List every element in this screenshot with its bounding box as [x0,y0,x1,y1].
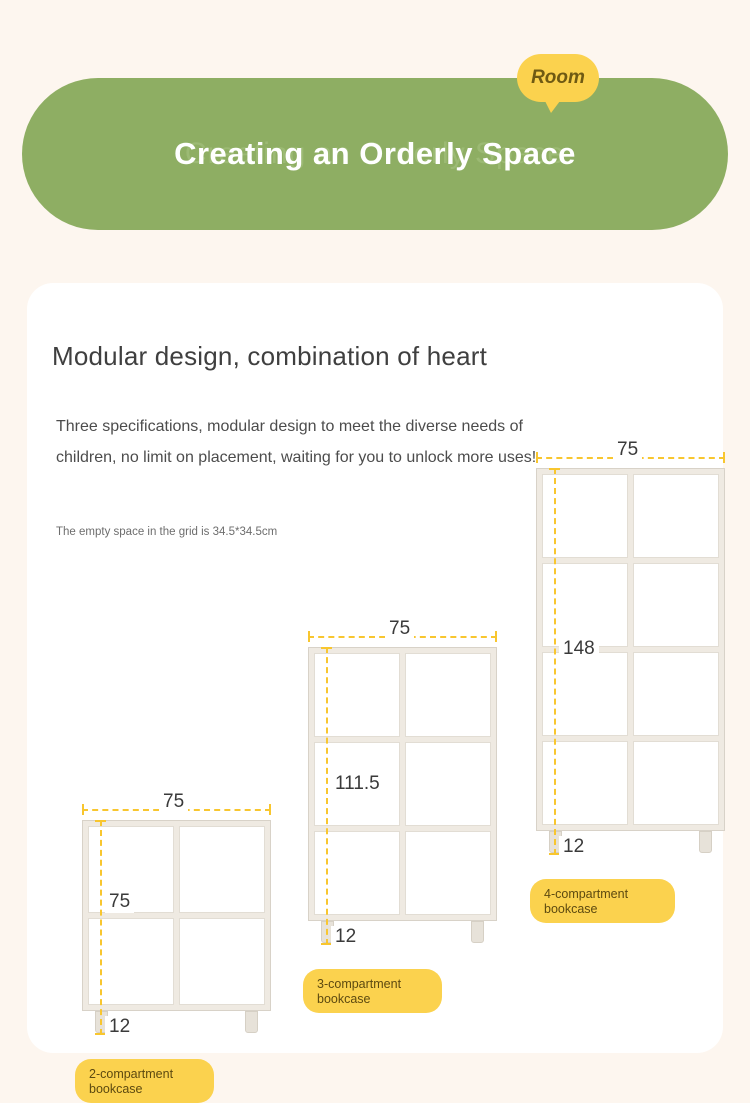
shelf-diagram-area: 75 75 12 2-compartment [27,283,723,1053]
width-dimension-tick-right [495,631,497,642]
shelf-caption-line-2: bookcase [89,1082,204,1097]
cabinet-cell [405,653,491,737]
width-dimension-tick-left [536,452,538,463]
cabinet-cell [179,826,265,913]
height-dimension-line [326,647,328,945]
height-dimension-line [554,468,556,855]
cabinet-leg [245,1011,258,1033]
cabinet-leg [699,831,712,853]
room-badge-label: Room [517,54,599,102]
width-dimension-tick-right [269,804,271,815]
room-badge: Room [517,54,599,102]
shelf-caption-pill: 4-compartment bookcase [530,879,675,923]
hero-title: Creating an Orderly Space [22,136,728,172]
hero-section: Creating an Orderly Space Creating an Or… [0,0,750,270]
cabinet-cell [633,652,719,736]
shelf-caption-line-1: 3-compartment [317,977,432,992]
height-dimension-tick-top [321,647,332,649]
cabinet-body [82,820,271,1011]
height-dimension-line [100,820,102,1035]
height-dimension-label: 75 [105,891,134,913]
width-dimension-label: 75 [385,618,414,640]
shelf-diagram-3-compartment: 75 111.5 12 3-compartment b [275,583,495,1053]
shelf-caption-pill: 2-compartment bookcase [75,1059,214,1103]
shelf-diagram-4-compartment: 75 148 12 4-c [502,493,722,1053]
hero-banner: Creating an Orderly Space Creating an Or… [22,78,728,230]
width-dimension-tick-left [82,804,84,815]
shelf-caption-line-1: 4-compartment [544,887,665,902]
shelf-diagram-2-compartment: 75 75 12 2-compartment [47,673,267,1053]
cabinet-cell [633,474,719,558]
width-dimension-tick-left [308,631,310,642]
cabinet-leg [471,921,484,943]
content-card: Modular design, combination of heart Thr… [27,283,723,1053]
height-dimension-label: 111.5 [331,773,384,795]
shelf-caption-line-1: 2-compartment [89,1067,204,1082]
width-dimension-label: 75 [613,439,642,461]
shelf-caption-line-2: bookcase [317,992,432,1007]
width-dimension-label: 75 [159,791,188,813]
leg-dimension-label: 12 [331,926,360,948]
cabinet-cell [633,741,719,825]
cabinet-grid [88,826,265,1005]
cabinet-cell [405,742,491,826]
cabinet-cell [405,831,491,915]
cabinet-cell [633,563,719,647]
height-dimension-label: 148 [559,638,599,660]
shelf-caption-line-2: bookcase [544,902,665,917]
shelf-caption-pill: 3-compartment bookcase [303,969,442,1013]
leg-dimension-label: 12 [559,836,588,858]
height-dimension-tick-top [95,820,106,822]
leg-dimension-label: 12 [105,1016,134,1038]
cabinet-cell [179,918,265,1005]
width-dimension-tick-right [723,452,725,463]
height-dimension-tick-top [549,468,560,470]
